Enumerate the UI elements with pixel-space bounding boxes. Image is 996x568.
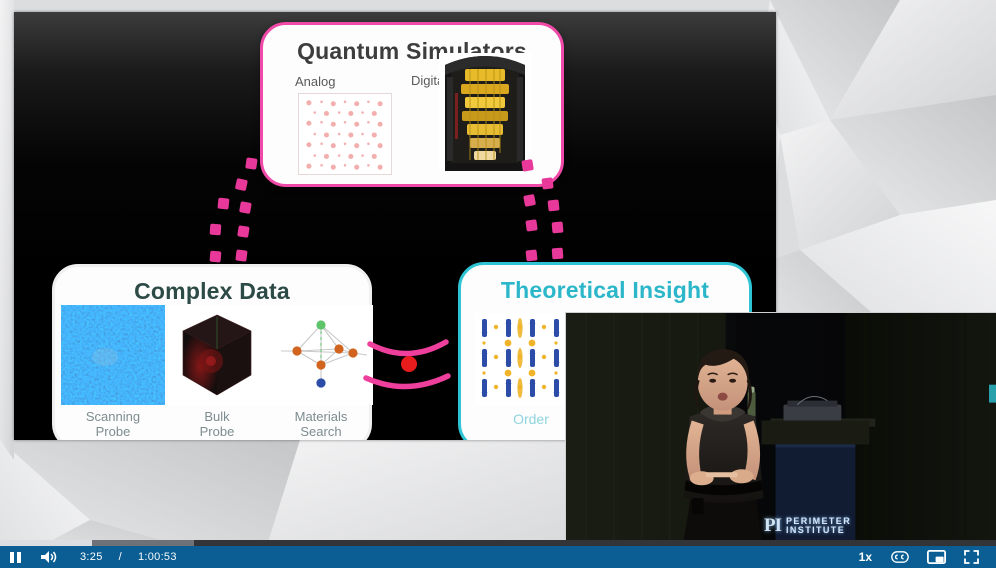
analog-label: Analog [295, 74, 335, 89]
time-display: 3:25 / 1:00:53 [66, 551, 177, 563]
fullscreen-icon[interactable] [955, 546, 988, 568]
pause-button[interactable] [0, 546, 31, 568]
card-complex-data: Complex Data Scanning Probe [52, 264, 372, 440]
perimeter-institute-logo: PI PERIMETER INSTITUTE [764, 516, 851, 535]
materials-search-caption: Materials Search [269, 409, 373, 439]
materials-search-graph-image [269, 305, 373, 405]
scanning-probe-image [61, 305, 165, 405]
volume-button[interactable] [31, 546, 66, 568]
total-time: 1:00:53 [138, 551, 177, 563]
complex-data-title: Complex Data [55, 278, 369, 305]
picture-in-picture-icon[interactable] [918, 546, 955, 568]
caption-line-2: Probe [200, 424, 235, 439]
caption-line-1: Materials [295, 409, 348, 424]
control-bar-left-group: 3:25 / 1:00:53 [0, 546, 177, 568]
pi-wordmark: PERIMETER INSTITUTE [786, 517, 851, 535]
current-time: 3:25 [80, 551, 103, 563]
caption-line-1: Scanning [86, 409, 140, 424]
analog-atom-array-image [298, 93, 392, 175]
bulk-probe-cube-image [165, 305, 269, 405]
pi-monogram: PI [764, 516, 781, 535]
pi-wordmark-line-2: INSTITUTE [786, 526, 851, 535]
scanning-probe-caption: Scanning Probe [61, 409, 165, 439]
video-player: Quantum Simulators Analog Digital [0, 0, 996, 568]
speaker-video-overlay[interactable]: PI PERIMETER INSTITUTE [565, 312, 996, 540]
caption-line-2: Probe [96, 424, 131, 439]
caption-line-1: Bulk [204, 409, 229, 424]
time-separator: / [103, 551, 138, 563]
bulk-probe-caption: Bulk Probe [165, 409, 269, 439]
theoretical-insight-title: Theoretical Insight [461, 277, 749, 304]
caption-line-2: Search [300, 424, 341, 439]
control-bar-right-group: 1x [849, 546, 996, 568]
card-quantum-simulators: Quantum Simulators Analog Digital [260, 22, 564, 187]
digital-quantum-computer-image [439, 53, 531, 171]
playback-speed-button[interactable]: 1x [849, 546, 882, 568]
player-control-bar: 3:25 / 1:00:53 1x [0, 546, 996, 568]
captions-icon[interactable] [882, 546, 918, 568]
